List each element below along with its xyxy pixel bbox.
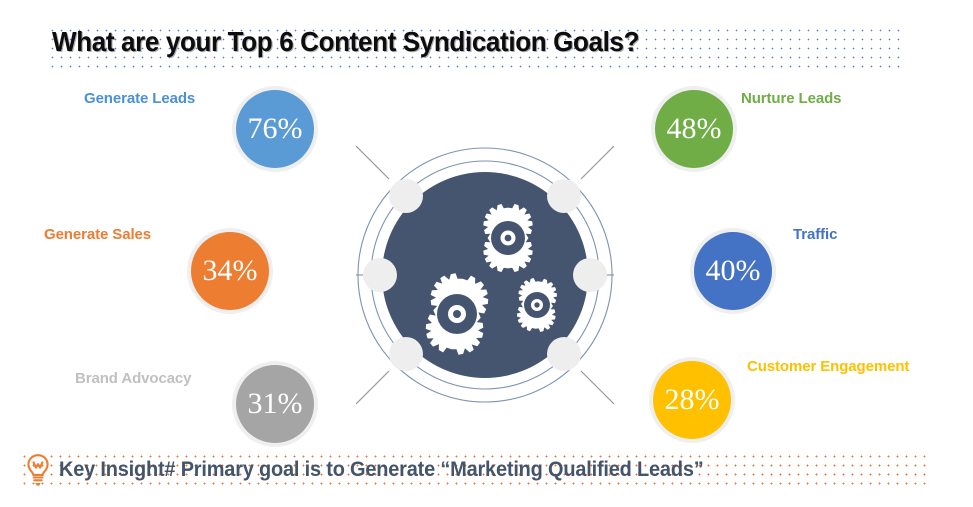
stat-node-disc: 31% xyxy=(236,365,314,443)
stat-label-nurture-leads: Nurture Leads xyxy=(741,90,841,107)
stat-node-disc: 28% xyxy=(653,361,731,439)
stat-value: 34% xyxy=(203,256,258,286)
stat-node-generate-leads[interactable]: 76% xyxy=(232,86,318,172)
stat-value: 28% xyxy=(665,385,720,415)
infographic-slide: What are your Top 6 Content Syndication … xyxy=(0,0,973,507)
stat-node-customer-engagement[interactable]: 28% xyxy=(649,357,735,443)
insight-text: Key Insight# Primary goal is to Generate… xyxy=(59,458,704,482)
stat-node-brand-advocacy[interactable]: 31% xyxy=(232,361,318,447)
stat-label-brand-advocacy: Brand Advocacy xyxy=(75,370,191,387)
stat-value: 48% xyxy=(667,114,722,144)
key-insight: Key Insight# Primary goal is to Generate… xyxy=(24,452,737,488)
stat-label-customer-engagement: Customer Engagement xyxy=(747,358,909,375)
stat-value: 76% xyxy=(248,114,303,144)
stat-label-traffic: Traffic xyxy=(793,226,837,243)
page-title: What are your Top 6 Content Syndication … xyxy=(52,26,639,58)
stat-value: 31% xyxy=(248,389,303,419)
stat-node-generate-sales[interactable]: 34% xyxy=(187,228,273,314)
stat-node-disc: 48% xyxy=(655,90,733,168)
central-hub xyxy=(356,146,614,404)
stat-value: 40% xyxy=(706,256,761,286)
stat-label-generate-sales: Generate Sales xyxy=(44,226,151,243)
stat-node-disc: 40% xyxy=(694,232,772,310)
stat-node-disc: 76% xyxy=(236,90,314,168)
stat-node-disc: 34% xyxy=(191,232,269,310)
stat-node-traffic[interactable]: 40% xyxy=(690,228,776,314)
stat-label-generate-leads: Generate Leads xyxy=(84,90,195,107)
stat-node-nurture-leads[interactable]: 48% xyxy=(651,86,737,172)
lightbulb-icon xyxy=(24,453,52,487)
